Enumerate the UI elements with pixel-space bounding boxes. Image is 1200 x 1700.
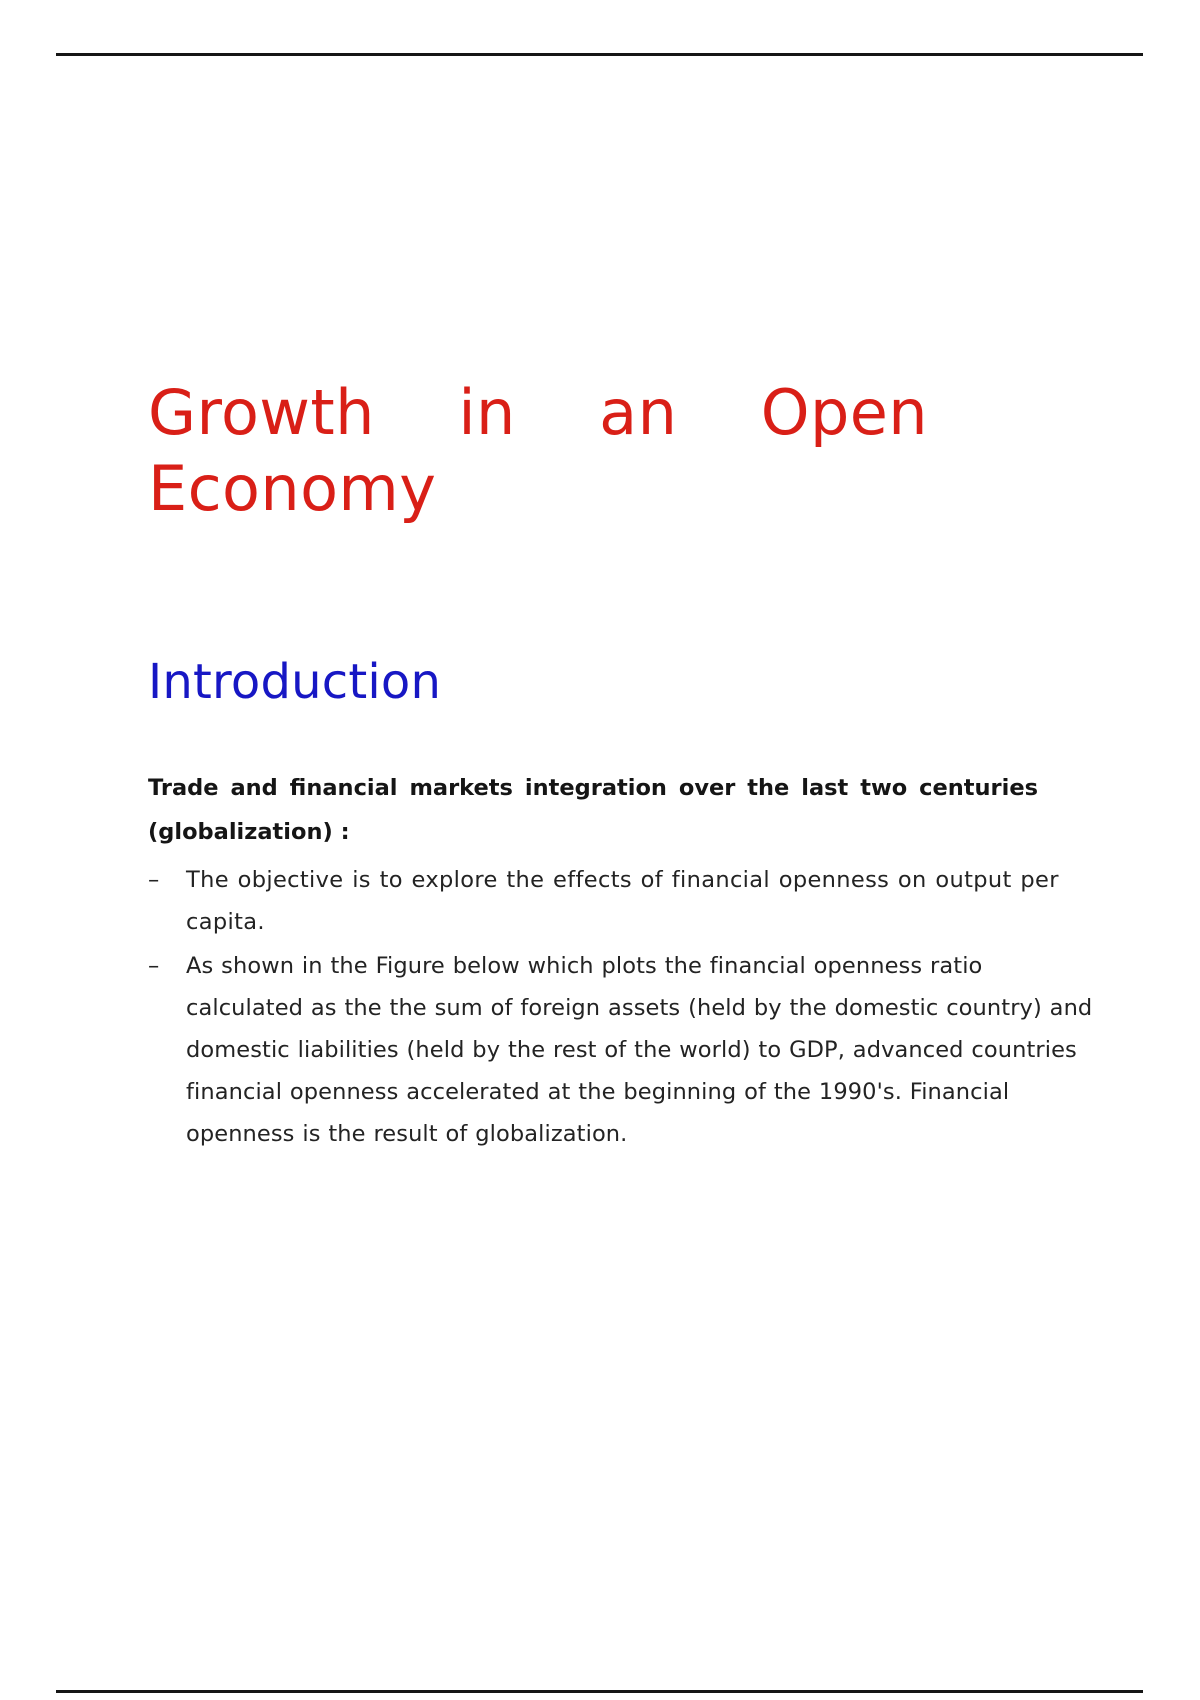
dash-bullet-icon: – [148, 859, 160, 901]
dash-bullet-icon: – [148, 945, 159, 987]
page-title: Growth in an Open Economy [148, 375, 928, 526]
footer-divider [56, 1690, 1143, 1693]
list-item-text: The objective is to explore the effects … [186, 867, 1059, 935]
document-page: Growth in an Open Economy Introduction T… [0, 0, 1200, 1700]
list-item-text: As shown in the Figure below which plots… [186, 953, 1092, 1147]
list-item: – As shown in the Figure below which plo… [148, 945, 1106, 1155]
list-item: – The objective is to explore the effect… [148, 859, 1106, 943]
bullet-list: – The objective is to explore the effect… [148, 855, 1058, 1155]
lead-paragraph: Trade and financial markets integration … [148, 709, 1038, 855]
section-heading-introduction: Introduction [148, 526, 1058, 709]
document-content: Growth in an Open Economy Introduction T… [148, 375, 1058, 1157]
header-divider [56, 53, 1143, 56]
